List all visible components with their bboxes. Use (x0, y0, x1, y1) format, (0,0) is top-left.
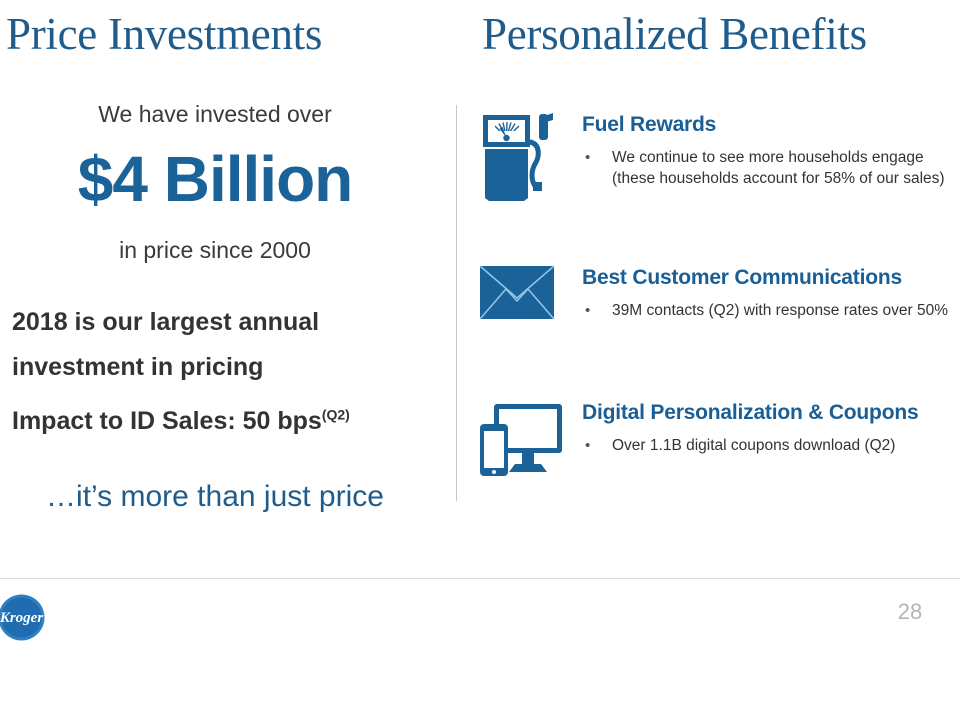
page-title-right: Personalized Benefits (482, 6, 957, 62)
benefit-heading: Fuel Rewards (582, 112, 960, 138)
benefit-heading: Digital Personalization & Coupons (582, 400, 960, 426)
benefit-bullet-text: Over 1.1B digital coupons download (Q2) (612, 437, 895, 454)
benefit-bullet-text: We continue to see more households engag… (612, 149, 945, 187)
envelope-icon (478, 265, 566, 357)
benefit-bullet: • 39M contacts (Q2) with response rates … (582, 300, 960, 321)
benefit-heading: Best Customer Communications (582, 265, 960, 291)
lead-line: We have invested over (0, 99, 430, 129)
statement-impact-id-sales: Impact to ID Sales: 50 bps(Q2) (12, 404, 432, 438)
bullet-dot-icon: • (585, 147, 590, 168)
kroger-logo: Kroger (0, 594, 45, 641)
statement-largest-investment: 2018 is our largest annual investment in… (12, 300, 412, 390)
benefit-body: Fuel Rewards • We continue to see more h… (582, 112, 960, 189)
kroger-logo-text: Kroger (0, 610, 43, 626)
fuel-pump-icon (478, 112, 566, 204)
tagline: …it’s more than just price (0, 477, 430, 517)
page-number: 28 (880, 598, 940, 626)
bullet-dot-icon: • (585, 435, 590, 456)
statement-impact-text: Impact to ID Sales: 50 bps (12, 407, 322, 435)
monitor-phone-icon (478, 400, 566, 492)
benefit-bullet: • Over 1.1B digital coupons download (Q2… (582, 435, 960, 456)
benefit-bullet-text: 39M contacts (Q2) with response rates ov… (612, 302, 948, 319)
page-title-left: Price Investments (6, 6, 436, 62)
column-divider (456, 105, 457, 501)
statement-impact-note: (Q2) (322, 407, 350, 423)
slide-canvas: Price Investments Personalized Benefits … (0, 0, 960, 720)
footer-divider (0, 578, 960, 579)
benefit-bullet: • We continue to see more households eng… (582, 147, 960, 189)
benefit-body: Best Customer Communications • 39M conta… (582, 265, 960, 321)
bullet-dot-icon: • (585, 300, 590, 321)
benefit-body: Digital Personalization & Coupons • Over… (582, 400, 960, 456)
sub-line: in price since 2000 (0, 235, 430, 265)
headline-figure: $4 Billion (0, 140, 430, 218)
